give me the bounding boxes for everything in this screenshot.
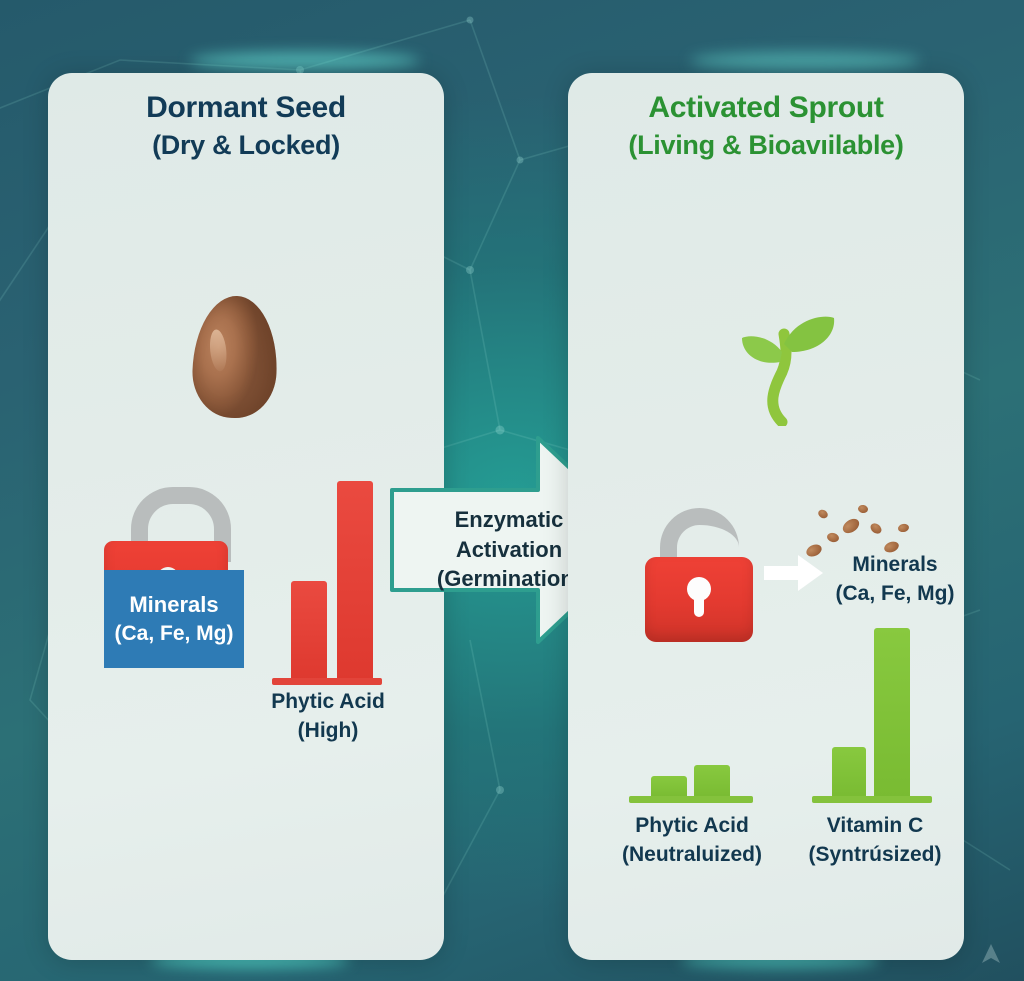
- vitamin-c-caption-line1: Vitamin C: [827, 814, 923, 837]
- padlock-keyhole-open: [687, 577, 711, 601]
- right-panel-title-main: Activated Sprout: [648, 91, 883, 124]
- left-panel-title-main: Dormant Seed: [146, 91, 346, 124]
- bar-phytic-high-1: [291, 581, 327, 680]
- bar-phytic-high-2: [337, 481, 373, 680]
- minerals-box-line2: (Ca, Fe, Mg): [104, 620, 244, 647]
- right-panel-title: Activated Sprout (Living & Bioavıilable): [568, 88, 964, 163]
- vitamin-c-caption-line2: (Syntrúsized): [782, 841, 968, 870]
- phytic-acid-high-caption: Phytic Acid (High): [237, 688, 419, 746]
- phytic-high-caption-line2: (High): [237, 717, 419, 746]
- minerals-locked-box: Minerals (Ca, Fe, Mg): [104, 570, 244, 668]
- minerals-box-line1: Minerals: [104, 591, 244, 620]
- bar-phytic-neutral-1: [651, 776, 687, 798]
- chart-baseline-vitamin-c: [812, 796, 932, 803]
- sprout-icon: [718, 296, 848, 426]
- chart-baseline-left: [272, 678, 382, 685]
- bar-phytic-neutral-2: [694, 765, 730, 798]
- vitamin-c-caption: Vitamin C (Syntrúsized): [782, 812, 968, 870]
- left-panel-title: Dormant Seed (Dry & Locked): [48, 88, 444, 163]
- released-minerals-line1: Minerals: [795, 551, 995, 580]
- left-panel-title-sub: (Dry & Locked): [48, 128, 444, 164]
- phytic-neutral-caption-line1: Phytic Acid: [635, 814, 749, 837]
- phytic-high-caption-line1: Phytic Acid: [271, 690, 385, 713]
- infographic-canvas: Dormant Seed (Dry & Locked) Minerals (Ca…: [0, 0, 1024, 981]
- bar-vitamin-c-1: [832, 747, 866, 798]
- glow-top-right: [690, 52, 920, 70]
- phytic-acid-neutralized-caption: Phytic Acid (Neutraluized): [597, 812, 787, 870]
- corner-watermark-icon: [978, 941, 1004, 967]
- released-minerals-line2: (Ca, Fe, Mg): [795, 580, 995, 609]
- chart-baseline-phytic-right: [629, 796, 753, 803]
- bar-vitamin-c-2: [874, 628, 910, 798]
- glow-top-left: [190, 52, 420, 70]
- right-panel-title-sub: (Living & Bioavıilable): [568, 128, 964, 164]
- panel-dormant-seed: [48, 73, 444, 960]
- released-minerals-label: Minerals (Ca, Fe, Mg): [795, 551, 995, 608]
- phytic-neutral-caption-line2: (Neutraluized): [597, 841, 787, 870]
